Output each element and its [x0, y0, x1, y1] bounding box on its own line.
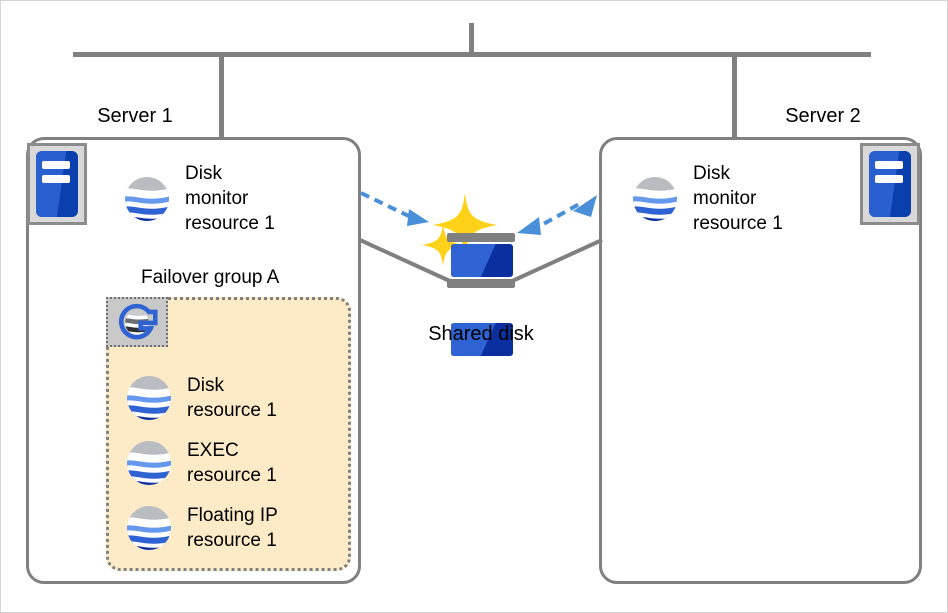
resource-globe-icon: [125, 504, 173, 552]
shared-disk-block-top: [451, 244, 513, 277]
resource-globe-icon: [123, 175, 171, 223]
network-drop-line-server1: [219, 52, 224, 137]
resource-globe-icon: [125, 374, 173, 422]
server-2-disk-monitor-resource: Disk monitor resource 1: [631, 161, 783, 236]
failover-resource-disk: Disk resource 1: [125, 373, 277, 423]
resource-globe-icon: [125, 439, 173, 487]
failover-resource-floating-ip: Floating IP resource 1: [125, 503, 278, 553]
failover-resource-exec: EXEC resource 1: [125, 438, 277, 488]
failover-resource-exec-label: EXEC resource 1: [187, 438, 277, 488]
server-1-disk-monitor-resource: Disk monitor resource 1: [123, 161, 275, 236]
server-2-disk-monitor-label: Disk monitor resource 1: [693, 161, 783, 236]
shared-disk-bar-middle: [447, 279, 515, 288]
failover-group-icon: [116, 301, 158, 343]
shared-disk-label: Shared disk: [401, 323, 561, 346]
failover-resource-disk-label: Disk resource 1: [187, 373, 277, 423]
resource-globe-icon: [631, 175, 679, 223]
network-uplink-line: [469, 23, 474, 55]
shared-disk-bar-top: [447, 233, 515, 242]
failover-group-a-label: Failover group A: [141, 267, 279, 289]
server-1-disk-monitor-label: Disk monitor resource 1: [185, 161, 275, 236]
arrow-server2-to-disk: [509, 191, 601, 237]
server-2-machine-icon: [860, 143, 920, 225]
failover-group-icon-frame: [106, 297, 168, 347]
network-drop-line-server2: [732, 52, 737, 137]
diagram-canvas: Server 1: [0, 0, 948, 613]
server-2-label: Server 2: [749, 105, 897, 128]
server-1-machine-icon: [27, 143, 87, 225]
failover-resource-floating-ip-label: Floating IP resource 1: [187, 503, 278, 553]
server-1-label: Server 1: [61, 105, 209, 128]
